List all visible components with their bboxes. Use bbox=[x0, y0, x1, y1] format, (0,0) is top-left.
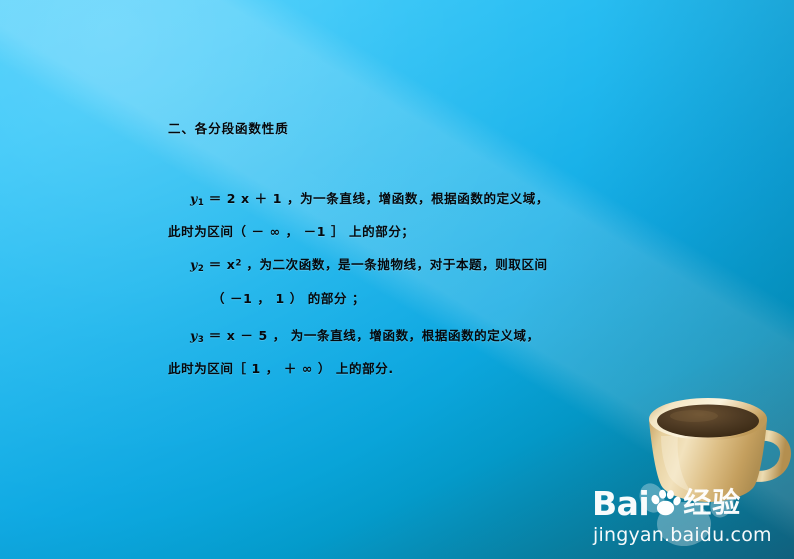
formula-line-5: y3 ＝ x － 5 ， 为一条直线，增函数，根据函数的定义域， bbox=[190, 325, 540, 345]
formula-line-6: 此时为区间［ 1 ， ＋ ∞ ） 上的部分. bbox=[168, 358, 394, 377]
formula-line-5-text: ＝ x － 5 ， 为一条直线，增函数，根据函数的定义域， bbox=[204, 328, 540, 343]
formula-line-1: y1 ＝ 2 x ＋ 1 ，为一条直线，增函数，根据函数的定义域， bbox=[190, 188, 549, 208]
slide-content: 二、各分段函数性质 y1 ＝ 2 x ＋ 1 ，为一条直线，增函数，根据函数的定… bbox=[0, 0, 794, 559]
variable-y2: y bbox=[190, 257, 198, 272]
formula-line-3-text: ＝ x bbox=[204, 257, 236, 272]
variable-y3: y bbox=[190, 328, 198, 343]
formula-line-1-text: ＝ 2 x ＋ 1 ，为一条直线，增函数，根据函数的定义域， bbox=[204, 191, 549, 206]
formula-line-3-text-after: ，为二次函数，是一条抛物线，对于本题，则取区间 bbox=[241, 257, 547, 272]
formula-line-3: y2 ＝ x2 ，为二次函数，是一条抛物线，对于本题，则取区间 bbox=[190, 254, 548, 274]
formula-line-2: 此时为区间（ － ∞ ， －1 ］ 上的部分； bbox=[168, 221, 415, 240]
variable-y1: y bbox=[190, 191, 198, 206]
formula-line-4: （ －1 ， 1 ） 的部分 ； bbox=[212, 288, 365, 307]
slide-heading: 二、各分段函数性质 bbox=[168, 118, 289, 137]
presentation-slide: 二、各分段函数性质 y1 ＝ 2 x ＋ 1 ，为一条直线，增函数，根据函数的定… bbox=[0, 0, 794, 559]
